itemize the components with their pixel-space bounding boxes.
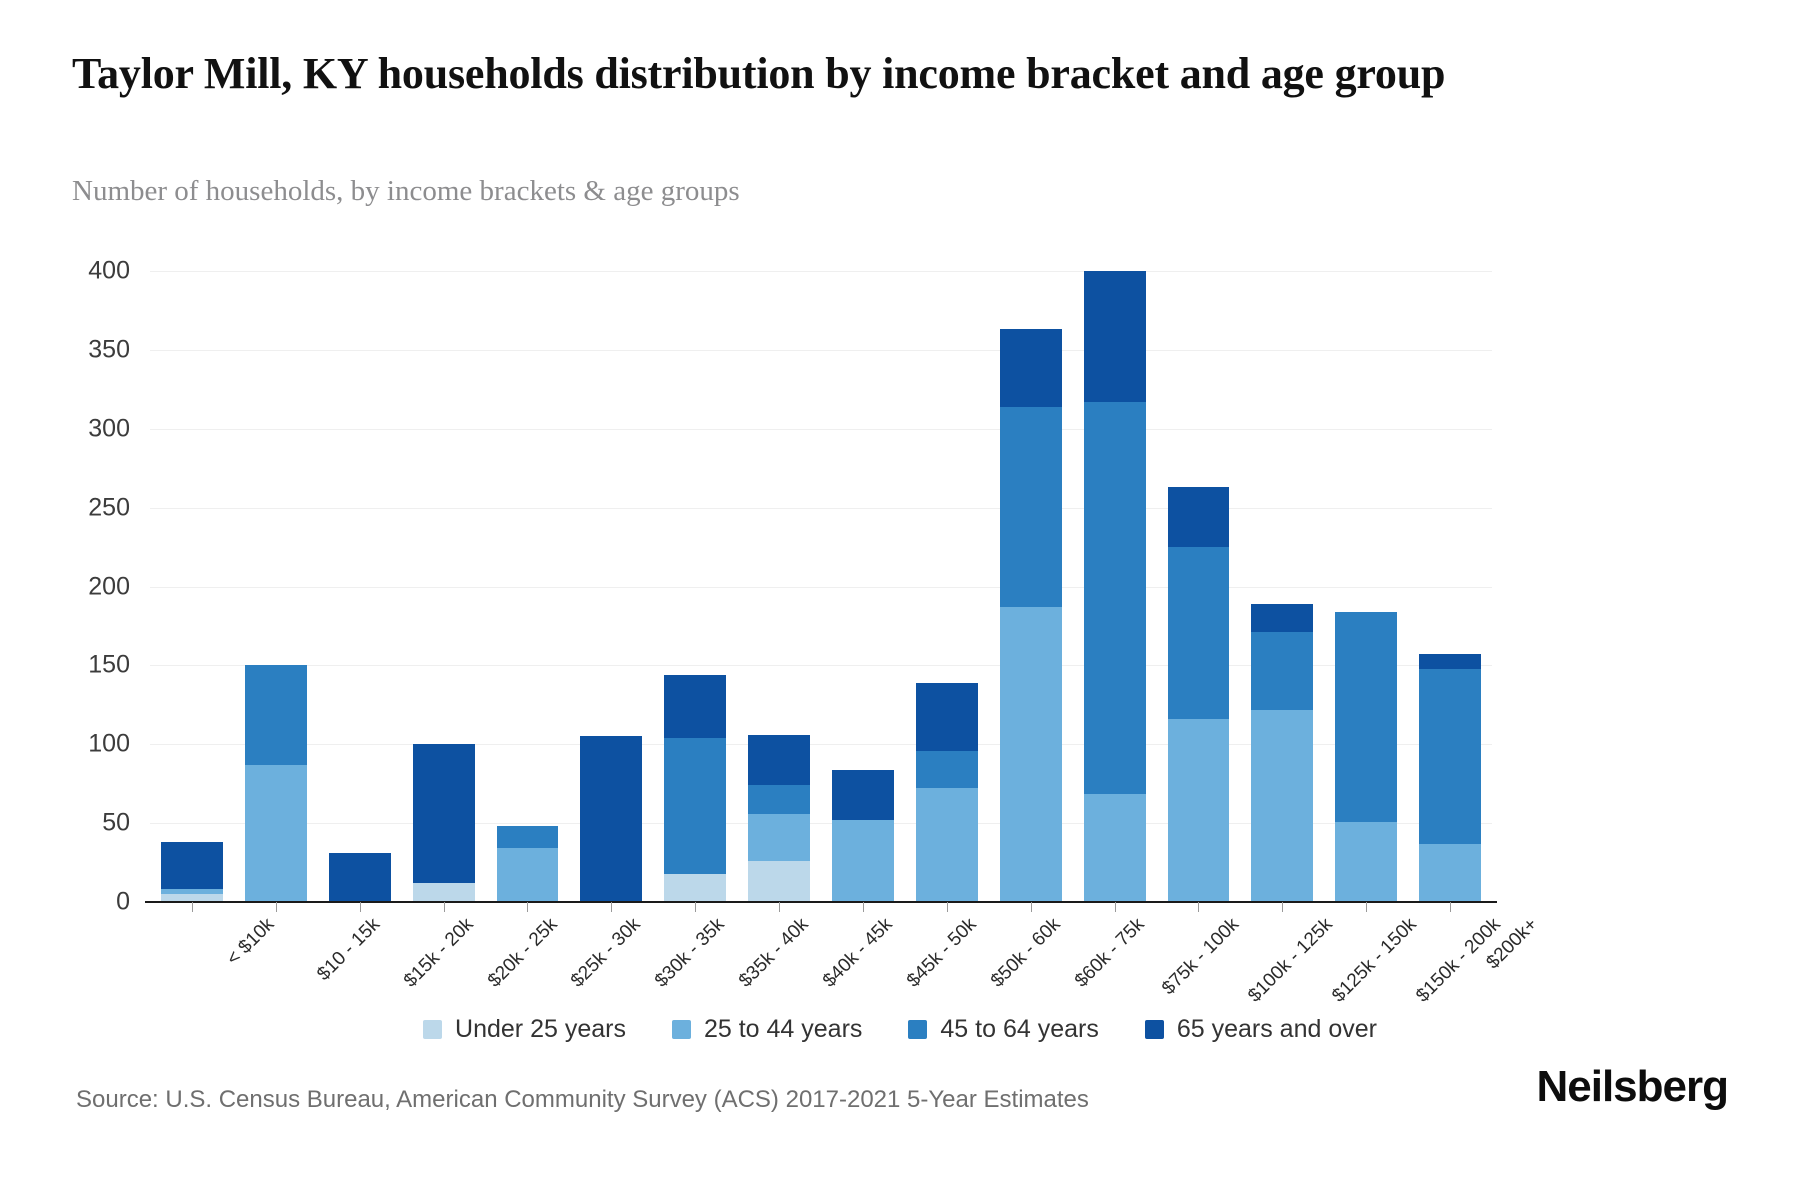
bar-segment[interactable] bbox=[916, 683, 978, 751]
page-title: Taylor Mill, KY households distribution … bbox=[72, 48, 1632, 100]
bar-segment[interactable] bbox=[497, 848, 559, 902]
bar-segment[interactable] bbox=[1419, 669, 1481, 844]
x-axis-tick-label: $40k - 45k bbox=[819, 914, 897, 992]
bar-segment[interactable] bbox=[1251, 604, 1313, 632]
bar-column[interactable] bbox=[1000, 271, 1062, 902]
x-axis-tick-label: $50k - 60k bbox=[987, 914, 1065, 992]
bar-segment[interactable] bbox=[1335, 612, 1397, 822]
x-axis-tick-label: $15k - 20k bbox=[400, 914, 478, 992]
bar-column[interactable] bbox=[832, 271, 894, 902]
bar-column[interactable] bbox=[1419, 271, 1481, 902]
bar-segment[interactable] bbox=[664, 675, 726, 738]
legend-swatch-icon bbox=[1145, 1020, 1164, 1039]
x-axis-tick-label: $75k - 100k bbox=[1158, 914, 1244, 1000]
x-axis-tick-label: $10 - 15k bbox=[313, 914, 385, 986]
legend-item[interactable]: 45 to 64 years bbox=[908, 1015, 1098, 1044]
legend-label: 45 to 64 years bbox=[940, 1015, 1098, 1044]
source-note: Source: U.S. Census Bureau, American Com… bbox=[76, 1086, 1089, 1114]
bar-segment[interactable] bbox=[1419, 844, 1481, 902]
y-axis-tick-label: 350 bbox=[40, 335, 130, 364]
bar-segment[interactable] bbox=[1084, 271, 1146, 402]
bar-segment[interactable] bbox=[916, 788, 978, 902]
legend-item[interactable]: Under 25 years bbox=[423, 1015, 626, 1044]
page-subtitle: Number of households, by income brackets… bbox=[72, 175, 1572, 208]
bar-segment[interactable] bbox=[413, 744, 475, 883]
legend-item[interactable]: 25 to 44 years bbox=[672, 1015, 862, 1044]
y-axis-tick-label: 300 bbox=[40, 414, 130, 443]
bar-column[interactable] bbox=[1335, 271, 1397, 902]
legend-swatch-icon bbox=[908, 1020, 927, 1039]
x-axis-tick-label: $60k - 75k bbox=[1071, 914, 1149, 992]
y-axis-tick-label: 100 bbox=[40, 730, 130, 759]
bar-column[interactable] bbox=[748, 271, 810, 902]
bar-segment[interactable] bbox=[748, 785, 810, 813]
legend-swatch-icon bbox=[423, 1020, 442, 1039]
bar-column[interactable] bbox=[161, 271, 223, 902]
bar-segment[interactable] bbox=[1000, 407, 1062, 607]
bar-segment[interactable] bbox=[1168, 547, 1230, 719]
bar-group bbox=[150, 271, 1492, 902]
bar-column[interactable] bbox=[497, 271, 559, 902]
bar-column[interactable] bbox=[1168, 271, 1230, 902]
bar-column[interactable] bbox=[664, 271, 726, 902]
bar-column[interactable] bbox=[1251, 271, 1313, 902]
y-axis-tick-label: 150 bbox=[40, 651, 130, 680]
bar-segment[interactable] bbox=[1251, 632, 1313, 709]
bar-column[interactable] bbox=[245, 271, 307, 902]
bar-segment[interactable] bbox=[1000, 607, 1062, 902]
bar-segment[interactable] bbox=[916, 751, 978, 789]
bar-segment[interactable] bbox=[1251, 710, 1313, 902]
bar-segment[interactable] bbox=[1168, 719, 1230, 902]
legend-swatch-icon bbox=[672, 1020, 691, 1039]
bar-segment[interactable] bbox=[497, 826, 559, 848]
bar-segment[interactable] bbox=[1419, 654, 1481, 668]
bar-segment[interactable] bbox=[580, 736, 642, 902]
bar-segment[interactable] bbox=[161, 842, 223, 889]
bar-column[interactable] bbox=[916, 271, 978, 902]
legend: Under 25 years25 to 44 years45 to 64 yea… bbox=[0, 1015, 1800, 1044]
x-axis-tick-label: $100k - 125k bbox=[1245, 914, 1338, 1007]
x-axis-tick-label: $20k - 25k bbox=[484, 914, 562, 992]
bar-column[interactable] bbox=[580, 271, 642, 902]
bar-segment[interactable] bbox=[1168, 487, 1230, 547]
bar-segment[interactable] bbox=[245, 665, 307, 764]
brand-logo: Neilsberg bbox=[1536, 1062, 1728, 1112]
bar-segment[interactable] bbox=[748, 735, 810, 785]
chart-page: Taylor Mill, KY households distribution … bbox=[0, 0, 1800, 1200]
plot-area bbox=[150, 271, 1492, 902]
legend-item[interactable]: 65 years and over bbox=[1145, 1015, 1377, 1044]
bar-segment[interactable] bbox=[664, 738, 726, 874]
y-axis-tick-label: 200 bbox=[40, 572, 130, 601]
y-axis-tick-label: 50 bbox=[40, 809, 130, 838]
bar-column[interactable] bbox=[413, 271, 475, 902]
x-axis-tick-label: $25k - 30k bbox=[567, 914, 645, 992]
x-axis-tick-label: $35k - 40k bbox=[735, 914, 813, 992]
bar-column[interactable] bbox=[329, 271, 391, 902]
bar-segment[interactable] bbox=[748, 814, 810, 861]
y-axis-tick-label: 0 bbox=[40, 888, 130, 917]
bar-segment[interactable] bbox=[832, 770, 894, 820]
bar-segment[interactable] bbox=[1084, 794, 1146, 902]
bar-segment[interactable] bbox=[1000, 329, 1062, 406]
bar-segment[interactable] bbox=[245, 765, 307, 902]
bar-segment[interactable] bbox=[664, 874, 726, 902]
x-axis-tick-label: $125k - 150k bbox=[1328, 914, 1421, 1007]
bar-segment[interactable] bbox=[1084, 402, 1146, 794]
bar-segment[interactable] bbox=[832, 820, 894, 902]
x-axis-tick-label: $30k - 35k bbox=[651, 914, 729, 992]
y-axis-tick-label: 250 bbox=[40, 493, 130, 522]
legend-label: 65 years and over bbox=[1177, 1015, 1377, 1044]
x-axis-tick-label: $45k - 50k bbox=[903, 914, 981, 992]
bar-column[interactable] bbox=[1084, 271, 1146, 902]
bar-segment[interactable] bbox=[413, 883, 475, 902]
legend-label: Under 25 years bbox=[455, 1015, 626, 1044]
bar-segment[interactable] bbox=[748, 861, 810, 902]
y-axis-tick-label: 400 bbox=[40, 257, 130, 286]
x-axis-tick-label: < $10k bbox=[223, 914, 279, 970]
bar-segment[interactable] bbox=[329, 853, 391, 902]
bar-segment[interactable] bbox=[1335, 822, 1397, 902]
legend-label: 25 to 44 years bbox=[704, 1015, 862, 1044]
